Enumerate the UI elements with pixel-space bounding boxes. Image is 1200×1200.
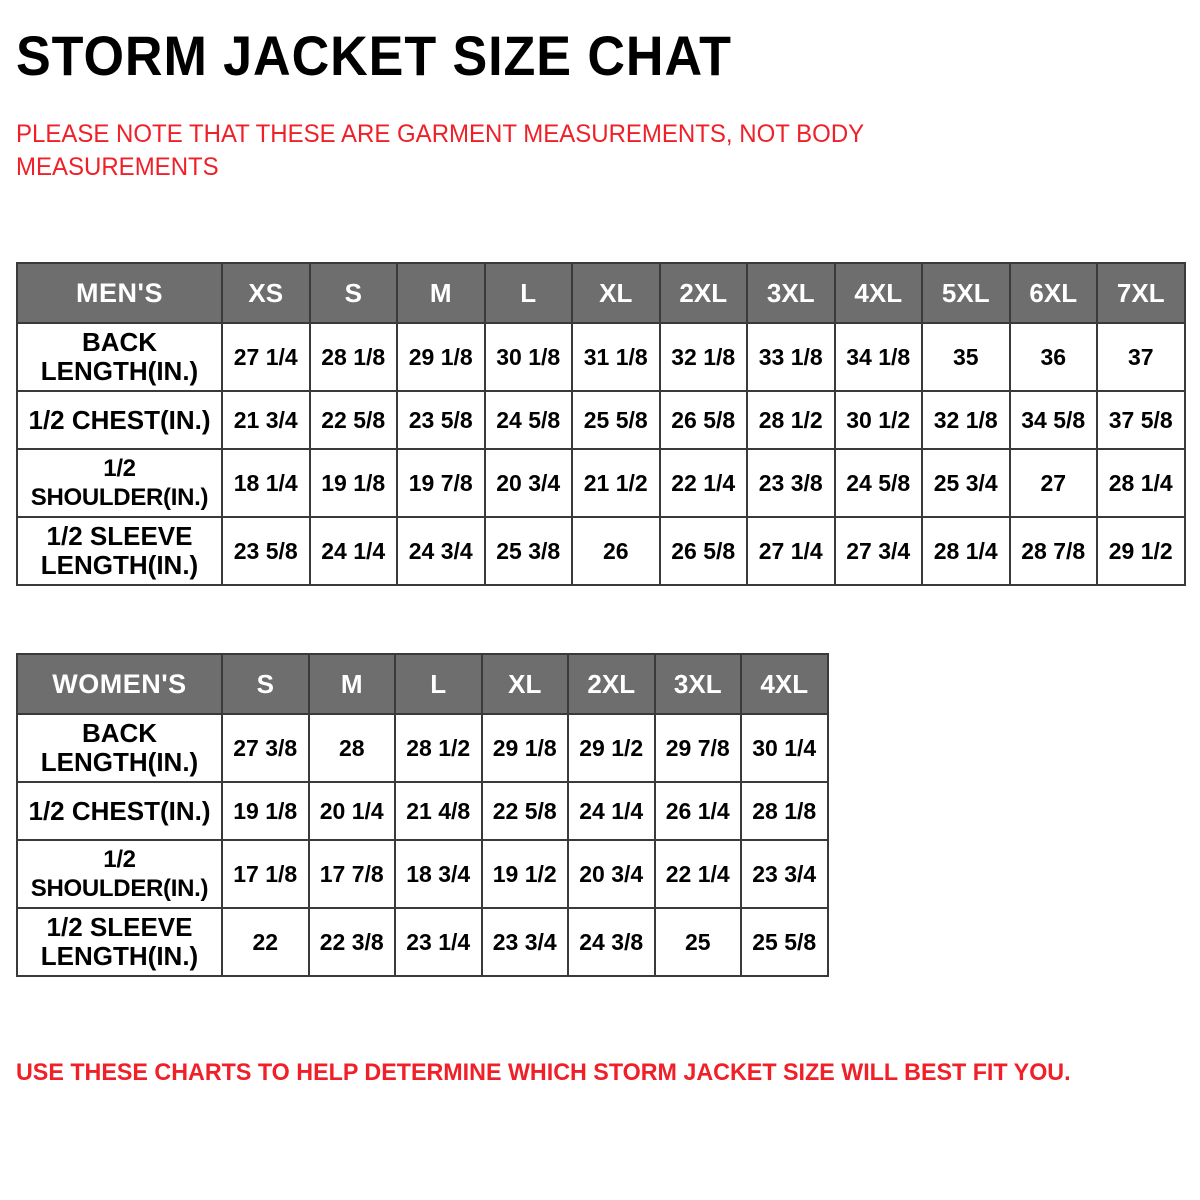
measurement-cell: 22 xyxy=(222,908,309,976)
measurement-cell: 17 1/8 xyxy=(222,840,309,908)
womens-size-header-2xl: 2XL xyxy=(568,654,655,714)
measurement-cell: 36 xyxy=(1010,323,1098,391)
mens-size-header-6xl: 6XL xyxy=(1010,263,1098,323)
measurement-cell: 26 5/8 xyxy=(660,391,748,449)
measurement-cell: 24 5/8 xyxy=(485,391,573,449)
measurement-cell: 24 1/4 xyxy=(568,782,655,840)
measurement-cell: 22 1/4 xyxy=(655,840,742,908)
measurement-cell: 28 7/8 xyxy=(1010,517,1098,585)
measurement-cell: 19 1/2 xyxy=(482,840,569,908)
womens-size-header-l: L xyxy=(395,654,482,714)
mens-size-header-5xl: 5XL xyxy=(922,263,1010,323)
measurement-cell: 28 1/4 xyxy=(1097,449,1185,517)
measurement-cell: 23 5/8 xyxy=(222,517,310,585)
womens-size-header-3xl: 3XL xyxy=(655,654,742,714)
measurement-cell: 29 1/2 xyxy=(1097,517,1185,585)
table-row: 1/2 SLEEVELENGTH(IN.)23 5/824 1/424 3/42… xyxy=(17,517,1185,585)
measurement-cell: 34 5/8 xyxy=(1010,391,1098,449)
measurement-cell: 29 1/2 xyxy=(568,714,655,782)
measurement-cell: 26 xyxy=(572,517,660,585)
measurement-cell: 31 1/8 xyxy=(572,323,660,391)
measurement-cell: 20 3/4 xyxy=(485,449,573,517)
measurement-cell: 28 1/2 xyxy=(747,391,835,449)
measurement-cell: 19 7/8 xyxy=(397,449,485,517)
page-title: STORM JACKET SIZE CHAT xyxy=(16,24,732,88)
measurement-cell: 27 1/4 xyxy=(747,517,835,585)
measurement-cell: 33 1/8 xyxy=(747,323,835,391)
measurement-cell: 28 1/2 xyxy=(395,714,482,782)
measurement-cell: 37 xyxy=(1097,323,1185,391)
measurement-cell: 27 xyxy=(1010,449,1098,517)
womens-table-title: WOMEN'S xyxy=(17,654,222,714)
measurement-cell: 29 7/8 xyxy=(655,714,742,782)
mens-size-header-2xl: 2XL xyxy=(660,263,748,323)
measurement-cell: 25 3/4 xyxy=(922,449,1010,517)
measurement-cell: 28 1/8 xyxy=(310,323,398,391)
table-row: 1/2 SLEEVELENGTH(IN.)2222 3/823 1/423 3/… xyxy=(17,908,828,976)
measurement-cell: 25 5/8 xyxy=(572,391,660,449)
womens-size-header-s: S xyxy=(222,654,309,714)
mens-table-body: BACKLENGTH(IN.)27 1/428 1/829 1/830 1/83… xyxy=(17,323,1185,585)
measurement-cell: 27 3/8 xyxy=(222,714,309,782)
measurement-cell: 26 1/4 xyxy=(655,782,742,840)
womens-table-body: BACKLENGTH(IN.)27 3/82828 1/229 1/829 1/… xyxy=(17,714,828,976)
mens-measure-label-2: 1/2 SHOULDER(IN.) xyxy=(17,449,222,517)
table-row: 1/2 CHEST(IN.)21 3/422 5/823 5/824 5/825… xyxy=(17,391,1185,449)
measurement-cell: 23 3/4 xyxy=(482,908,569,976)
mens-size-header-xs: XS xyxy=(222,263,310,323)
measurement-cell: 20 3/4 xyxy=(568,840,655,908)
womens-size-header-xl: XL xyxy=(482,654,569,714)
measurement-cell: 23 3/8 xyxy=(747,449,835,517)
measurement-cell: 20 1/4 xyxy=(309,782,396,840)
womens-header-row: WOMEN'SSMLXL2XL3XL4XL xyxy=(17,654,828,714)
measurement-cell: 22 5/8 xyxy=(310,391,398,449)
measurement-cell: 18 1/4 xyxy=(222,449,310,517)
table-row: BACKLENGTH(IN.)27 1/428 1/829 1/830 1/83… xyxy=(17,323,1185,391)
measurement-cell: 25 xyxy=(655,908,742,976)
measurement-cell: 29 1/8 xyxy=(397,323,485,391)
fit-guidance-note: USE THESE CHARTS TO HELP DETERMINE WHICH… xyxy=(16,1058,1102,1088)
womens-measure-label-3: 1/2 SLEEVELENGTH(IN.) xyxy=(17,908,222,976)
measurement-cell: 23 5/8 xyxy=(397,391,485,449)
measurement-cell: 35 xyxy=(922,323,1010,391)
table-row: 1/2 SHOULDER(IN.)18 1/419 1/819 7/820 3/… xyxy=(17,449,1185,517)
mens-size-header-xl: XL xyxy=(572,263,660,323)
womens-size-table: WOMEN'SSMLXL2XL3XL4XL BACKLENGTH(IN.)27 … xyxy=(16,653,829,977)
mens-size-header-7xl: 7XL xyxy=(1097,263,1185,323)
mens-size-header-m: M xyxy=(397,263,485,323)
measurement-cell: 23 3/4 xyxy=(741,840,828,908)
measurement-cell: 22 5/8 xyxy=(482,782,569,840)
mens-measure-label-3: 1/2 SLEEVELENGTH(IN.) xyxy=(17,517,222,585)
mens-header-row: MEN'SXSSMLXL2XL3XL4XL5XL6XL7XL xyxy=(17,263,1185,323)
womens-size-header-4xl: 4XL xyxy=(741,654,828,714)
garment-measurement-note: PLEASE NOTE THAT THESE ARE GARMENT MEASU… xyxy=(16,118,938,184)
mens-size-header-s: S xyxy=(310,263,398,323)
table-row: 1/2 SHOULDER(IN.)17 1/817 7/818 3/419 1/… xyxy=(17,840,828,908)
measurement-cell: 24 1/4 xyxy=(310,517,398,585)
measurement-cell: 34 1/8 xyxy=(835,323,923,391)
measurement-cell: 37 5/8 xyxy=(1097,391,1185,449)
mens-size-table: MEN'SXSSMLXL2XL3XL4XL5XL6XL7XL BACKLENGT… xyxy=(16,262,1186,586)
measurement-cell: 30 1/2 xyxy=(835,391,923,449)
womens-size-header-m: M xyxy=(309,654,396,714)
size-chart-page: STORM JACKET SIZE CHAT PLEASE NOTE THAT … xyxy=(0,0,1200,1200)
measurement-cell: 27 1/4 xyxy=(222,323,310,391)
mens-measure-label-1: 1/2 CHEST(IN.) xyxy=(17,391,222,449)
measurement-cell: 27 3/4 xyxy=(835,517,923,585)
measurement-cell: 17 7/8 xyxy=(309,840,396,908)
measurement-cell: 32 1/8 xyxy=(660,323,748,391)
womens-measure-label-2: 1/2 SHOULDER(IN.) xyxy=(17,840,222,908)
measurement-cell: 30 1/4 xyxy=(741,714,828,782)
measurement-cell: 30 1/8 xyxy=(485,323,573,391)
womens-measure-label-0: BACKLENGTH(IN.) xyxy=(17,714,222,782)
table-row: BACKLENGTH(IN.)27 3/82828 1/229 1/829 1/… xyxy=(17,714,828,782)
measurement-cell: 32 1/8 xyxy=(922,391,1010,449)
measurement-cell: 29 1/8 xyxy=(482,714,569,782)
mens-measure-label-0: BACKLENGTH(IN.) xyxy=(17,323,222,391)
mens-size-header-3xl: 3XL xyxy=(747,263,835,323)
measurement-cell: 24 3/4 xyxy=(397,517,485,585)
measurement-cell: 19 1/8 xyxy=(310,449,398,517)
measurement-cell: 28 1/8 xyxy=(741,782,828,840)
measurement-cell: 24 5/8 xyxy=(835,449,923,517)
measurement-cell: 28 xyxy=(309,714,396,782)
measurement-cell: 25 5/8 xyxy=(741,908,828,976)
mens-table-title: MEN'S xyxy=(17,263,222,323)
mens-size-header-4xl: 4XL xyxy=(835,263,923,323)
measurement-cell: 23 1/4 xyxy=(395,908,482,976)
measurement-cell: 18 3/4 xyxy=(395,840,482,908)
mens-size-header-l: L xyxy=(485,263,573,323)
womens-measure-label-1: 1/2 CHEST(IN.) xyxy=(17,782,222,840)
measurement-cell: 21 3/4 xyxy=(222,391,310,449)
measurement-cell: 21 1/2 xyxy=(572,449,660,517)
measurement-cell: 22 3/8 xyxy=(309,908,396,976)
measurement-cell: 26 5/8 xyxy=(660,517,748,585)
measurement-cell: 19 1/8 xyxy=(222,782,309,840)
measurement-cell: 24 3/8 xyxy=(568,908,655,976)
measurement-cell: 28 1/4 xyxy=(922,517,1010,585)
measurement-cell: 25 3/8 xyxy=(485,517,573,585)
measurement-cell: 22 1/4 xyxy=(660,449,748,517)
table-row: 1/2 CHEST(IN.)19 1/820 1/421 4/822 5/824… xyxy=(17,782,828,840)
measurement-cell: 21 4/8 xyxy=(395,782,482,840)
